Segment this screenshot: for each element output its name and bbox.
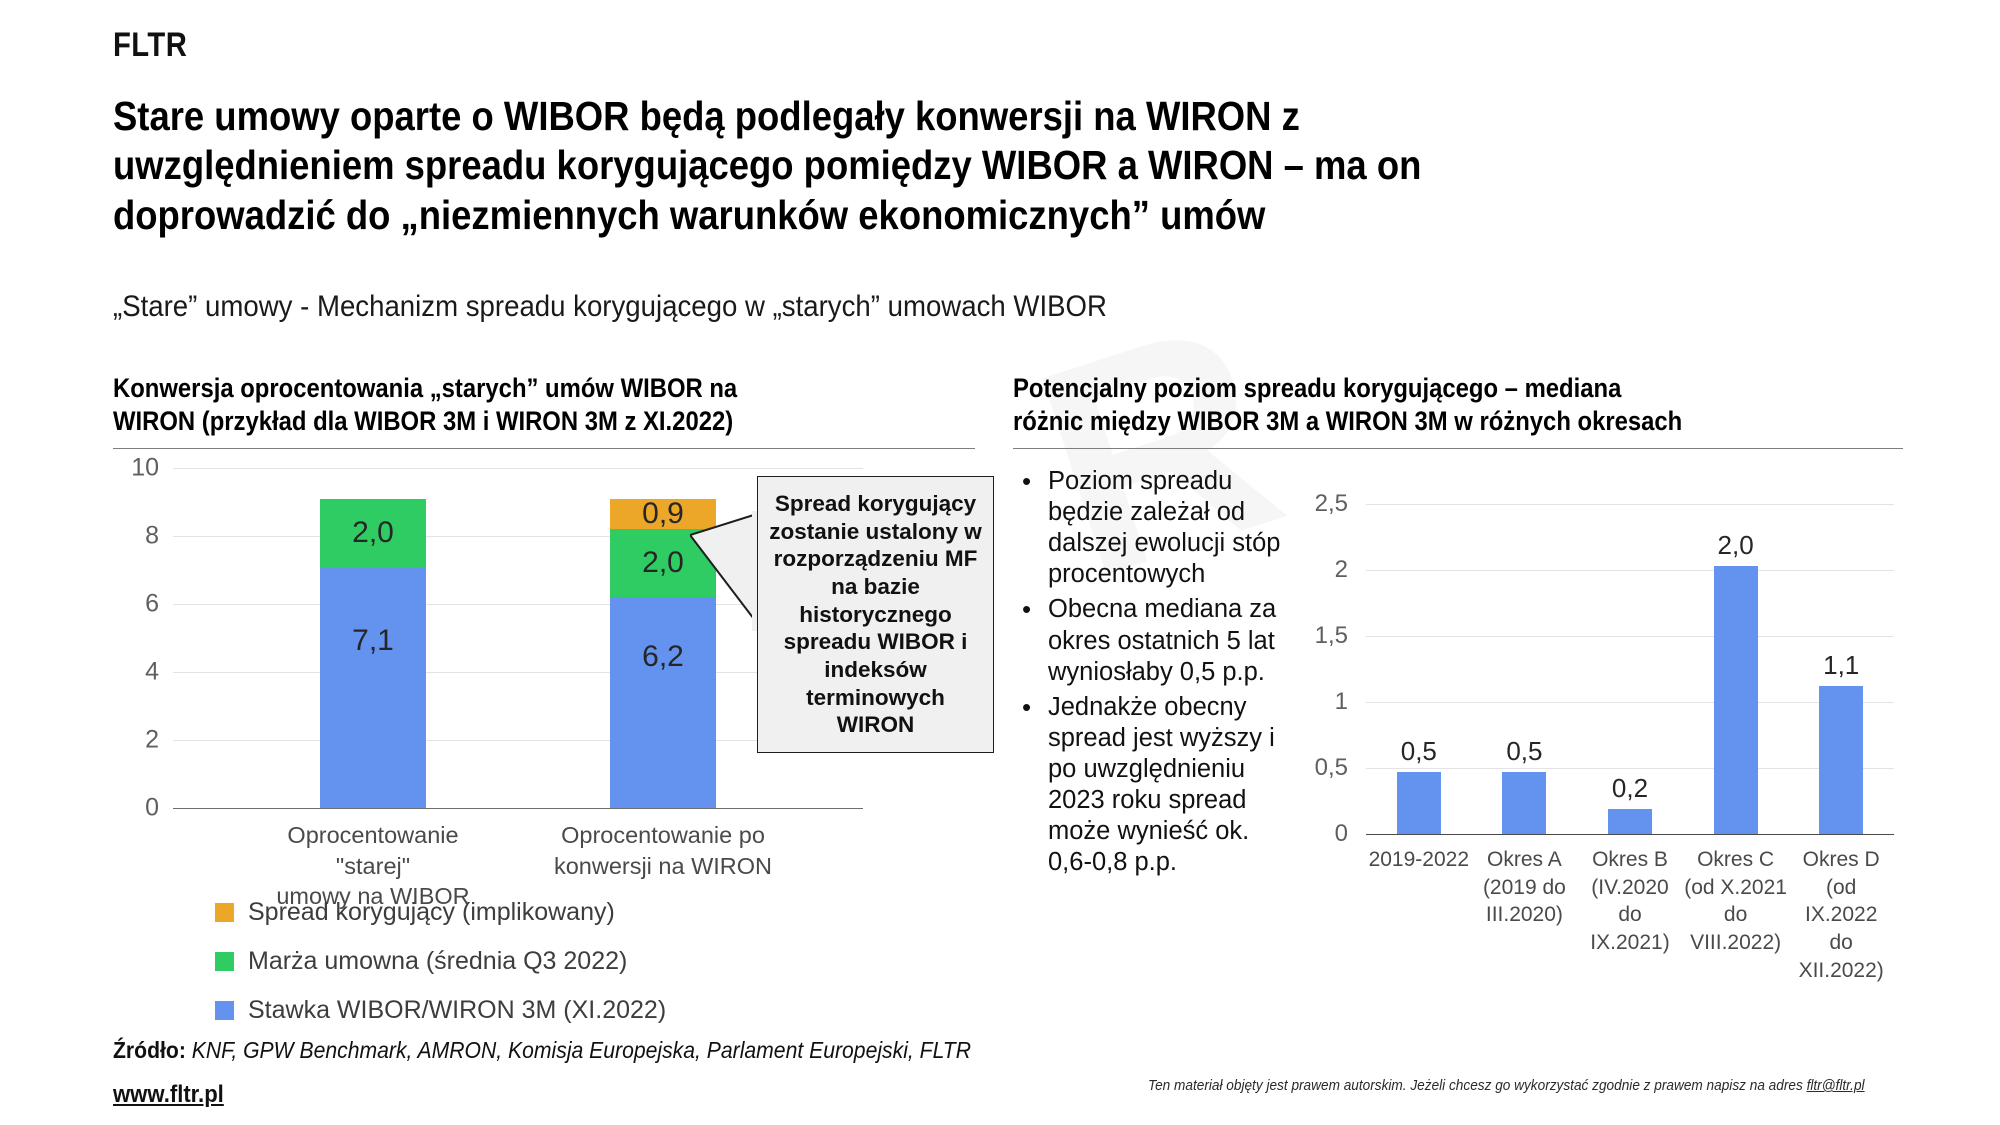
bar[interactable]: [1608, 809, 1652, 834]
right-chart-ytick: 1,5: [1315, 622, 1348, 650]
bullet-dot-icon: •: [1022, 692, 1048, 879]
right-chart-gridline: [1366, 834, 1894, 835]
left-chart-ytick: 6: [145, 590, 159, 619]
bullet-item: •Poziom spreadu będzie zależał od dalsze…: [1022, 466, 1284, 590]
right-chart-ytick: 2: [1335, 556, 1348, 584]
legend-label: Stawka WIBOR/WIRON 3M (XI.2022): [248, 996, 666, 1025]
right-chart-category-label: Okres D (od IX.2022 do XII.2022): [1788, 846, 1894, 985]
legend-label: Spread korygujący (implikowany): [248, 898, 615, 927]
bar-value-label: 7,1: [352, 624, 394, 658]
right-chart-plot: 0,50,50,22,01,1: [1366, 504, 1894, 834]
left-chart-y-axis: 0246810: [113, 468, 169, 808]
right-chart-gridline: [1366, 768, 1894, 769]
callout-box: Spread korygujący zostanie ustalony w ro…: [757, 476, 994, 753]
right-chart-category-label: 2019-2022: [1366, 846, 1472, 874]
right-chart-gridline: [1366, 702, 1894, 703]
legend-swatch-icon: [215, 952, 234, 971]
right-chart-category-label: Okres C (od X.2021 do VIII.2022): [1683, 846, 1789, 957]
bar-value-label: 0,9: [642, 497, 684, 531]
legend-swatch-icon: [215, 1001, 234, 1020]
bar[interactable]: [1502, 772, 1546, 834]
source-label: Źródło:: [113, 1037, 186, 1063]
bar-value-label: 0,2: [1575, 773, 1685, 804]
bullet-text: Obecna mediana za okres ostatnich 5 lat …: [1048, 594, 1284, 687]
left-chart-ytick: 0: [145, 794, 159, 823]
right-chart-gridline: [1366, 636, 1894, 637]
right-panel-title: Potencjalny poziom spreadu korygującego …: [1013, 372, 1814, 438]
slide-page: FLTR Stare umowy oparte o WIBOR będą pod…: [0, 0, 2000, 1125]
legend-label: Marża umowna (średnia Q3 2022): [248, 947, 627, 976]
left-chart-ytick: 2: [145, 726, 159, 755]
source-line: Źródło: KNF, GPW Benchmark, AMRON, Komis…: [113, 1037, 971, 1064]
left-chart-ytick: 8: [145, 522, 159, 551]
right-chart-gridline: [1366, 504, 1894, 505]
right-chart-ytick: 2,5: [1315, 490, 1348, 518]
right-chart-ytick: 0,5: [1315, 754, 1348, 782]
contact-email-link[interactable]: fltr@fltr.pl: [1807, 1078, 1865, 1094]
bar-segment: 7,1: [320, 567, 426, 808]
bullet-dot-icon: •: [1022, 466, 1048, 590]
left-panel-divider: [113, 448, 975, 449]
legend-swatch-icon: [215, 903, 234, 922]
left-chart-gridline: [173, 808, 863, 809]
bullet-text: Jednakże obecny spread jest wyższy i po …: [1048, 692, 1284, 879]
bar-value-label: 0,5: [1469, 736, 1579, 767]
left-chart-category-label: Oprocentowanie po konwersji na WIRON: [543, 820, 783, 881]
right-chart-gridline: [1366, 570, 1894, 571]
right-panel: Potencjalny poziom spreadu korygującego …: [1013, 372, 1903, 449]
left-chart-ytick: 4: [145, 658, 159, 687]
bullet-text: Poziom spreadu będzie zależał od dalszej…: [1048, 466, 1284, 590]
bar-segment: 2,0: [320, 499, 426, 567]
bar[interactable]: [1714, 566, 1758, 834]
left-chart-ytick: 10: [131, 454, 159, 483]
bar-value-label: 2,0: [352, 516, 394, 550]
legend-item[interactable]: Marża umowna (średnia Q3 2022): [215, 947, 666, 976]
left-panel: Konwersja oprocentowania „starych” umów …: [113, 372, 993, 449]
bar-value-label: 2,0: [642, 546, 684, 580]
bar-value-label: 6,2: [642, 640, 684, 674]
bullet-dot-icon: •: [1022, 594, 1048, 687]
bar[interactable]: [1819, 686, 1863, 834]
website-link[interactable]: www.fltr.pl: [113, 1081, 224, 1109]
left-chart-legend: Spread korygujący (implikowany)Marża umo…: [215, 898, 666, 1045]
chart-median-spread: 00,511,522,5 0,50,50,22,01,1 2019-2022Ok…: [1290, 490, 1910, 970]
legend-item[interactable]: Spread korygujący (implikowany): [215, 898, 666, 927]
right-chart-y-axis: 00,511,522,5: [1290, 504, 1360, 834]
bar-value-label: 0,5: [1364, 736, 1474, 767]
right-chart-ytick: 1: [1335, 688, 1348, 716]
bullet-item: •Obecna mediana za okres ostatnich 5 lat…: [1022, 594, 1284, 687]
right-chart-ytick: 0: [1335, 820, 1348, 848]
right-chart-category-label: Okres A (2019 do III.2020): [1471, 846, 1577, 929]
bar[interactable]: [1397, 772, 1441, 834]
right-panel-divider: [1013, 448, 1903, 449]
right-chart-category-label: Okres B (IV.2020 do IX.2021): [1577, 846, 1683, 957]
page-title: Stare umowy oparte o WIBOR będą podlegał…: [113, 92, 1481, 240]
left-panel-title: Konwersja oprocentowania „starych” umów …: [113, 372, 905, 438]
callout-text: Spread korygujący zostanie ustalony w ro…: [768, 490, 983, 739]
copyright-note: Ten materiał objęty jest prawem autorski…: [1148, 1078, 1865, 1094]
copyright-text: Ten materiał objęty jest prawem autorski…: [1148, 1078, 1807, 1094]
bar-value-label: 1,1: [1786, 650, 1896, 681]
left-chart-gridline: [173, 468, 863, 469]
legend-item[interactable]: Stawka WIBOR/WIRON 3M (XI.2022): [215, 996, 666, 1025]
bar-value-label: 2,0: [1681, 530, 1791, 561]
page-subtitle: „Stare” umowy - Mechanizm spreadu korygu…: [113, 290, 1493, 324]
right-panel-bullet-list: •Poziom spreadu będzie zależał od dalsze…: [1022, 466, 1284, 882]
source-text: KNF, GPW Benchmark, AMRON, Komisja Europ…: [186, 1037, 971, 1063]
brand-logo: FLTR: [113, 26, 187, 65]
stacked-bar[interactable]: 2,07,1: [320, 499, 426, 808]
bullet-item: •Jednakże obecny spread jest wyższy i po…: [1022, 692, 1284, 879]
